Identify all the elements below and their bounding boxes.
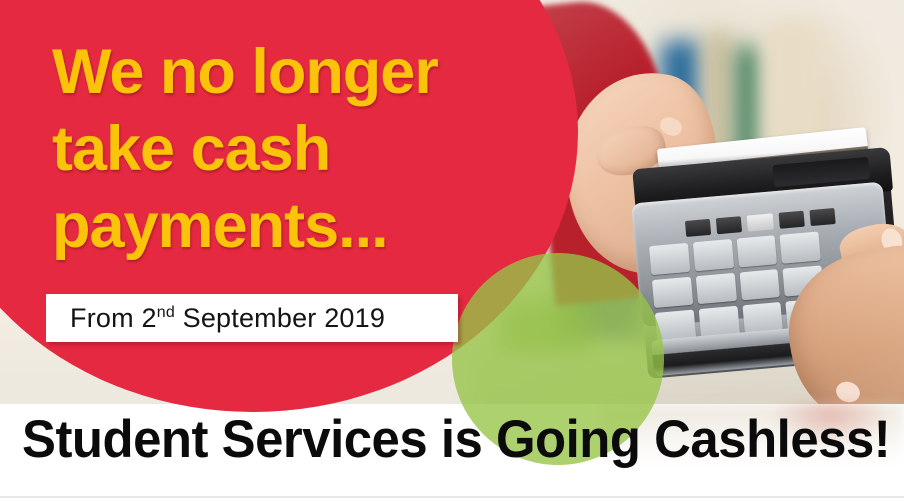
date-ordinal-suffix: nd [157, 304, 175, 321]
tagline: Student Services is Going Cashless! [22, 404, 863, 476]
headline-line-3: payments... [52, 188, 572, 265]
bottom-divider [0, 496, 904, 498]
date-text: From 2nd September 2019 [46, 303, 385, 334]
date-box: From 2nd September 2019 [46, 294, 458, 342]
headline: We no longer take cash payments... [52, 34, 572, 265]
headline-line-2: take cash [52, 111, 572, 188]
date-prefix: From 2 [70, 303, 157, 333]
date-suffix: September 2019 [175, 303, 385, 333]
poster-canvas: We no longer take cash payments... From … [0, 0, 904, 501]
headline-line-1: We no longer [52, 34, 572, 111]
